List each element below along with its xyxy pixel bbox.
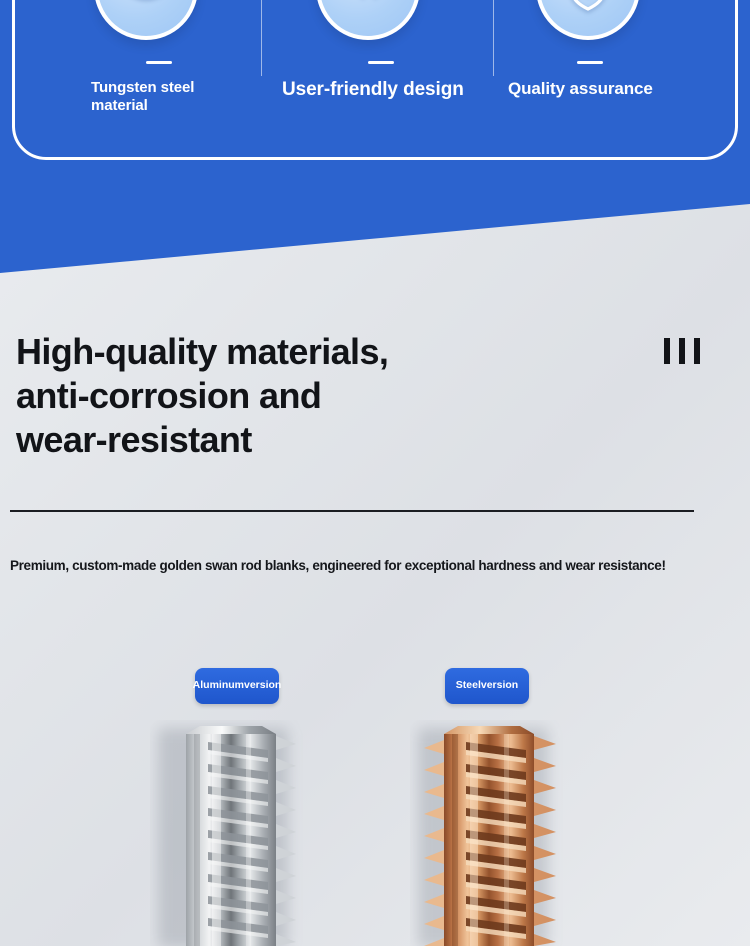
heading-line-3: wear-resistant	[16, 418, 546, 462]
feature-dash	[368, 61, 394, 64]
product-card-aluminum[interactable]: Aluminum version	[150, 668, 330, 704]
feature-item-quality[interactable]: Quality assurance	[494, 0, 738, 160]
badge-line-2: version	[244, 680, 281, 692]
feature-label: Quality assurance	[508, 79, 723, 99]
shield-check-icon	[536, 0, 640, 40]
bar-mark-2	[679, 338, 685, 364]
feature-highlights: Tungsten steel material User-friendly de…	[12, 0, 738, 160]
feature-label: Tungsten steel material	[91, 79, 221, 114]
threaded-rod-copper-illustration	[410, 720, 590, 946]
infinity-rings-icon	[94, 0, 198, 40]
arrows-expand-icon	[316, 0, 420, 40]
product-card-steel[interactable]: Steel version	[410, 668, 590, 704]
heading-line-1: High-quality materials,	[16, 330, 546, 374]
status-badge: Steel version	[445, 668, 529, 704]
threaded-rod-silver-illustration	[150, 720, 330, 946]
page-title: High-quality materials, anti-corrosion a…	[16, 330, 546, 462]
feature-item-tungsten[interactable]: Tungsten steel material	[12, 0, 262, 160]
triple-bar-decoration	[664, 338, 700, 364]
feature-dash	[146, 61, 172, 64]
feature-label: User-friendly design	[282, 79, 497, 101]
badge-line-2: version	[481, 680, 518, 692]
status-badge: Aluminum version	[195, 668, 279, 704]
feature-item-design[interactable]: User-friendly design	[262, 0, 494, 160]
product-image-aluminum	[150, 720, 330, 946]
product-image-steel	[410, 720, 590, 946]
badge-line-1: Aluminum	[193, 680, 244, 692]
heading-line-2: anti-corrosion and	[16, 374, 546, 418]
feature-dash	[577, 61, 603, 64]
product-detail-page: Tungsten steel material User-friendly de…	[0, 0, 750, 946]
page-subtitle: Premium, custom-made golden swan rod bla…	[10, 558, 730, 573]
bar-mark-3	[694, 338, 700, 364]
bar-mark-1	[664, 338, 670, 364]
badge-line-1: Steel	[456, 680, 481, 692]
horizontal-divider	[10, 510, 694, 512]
